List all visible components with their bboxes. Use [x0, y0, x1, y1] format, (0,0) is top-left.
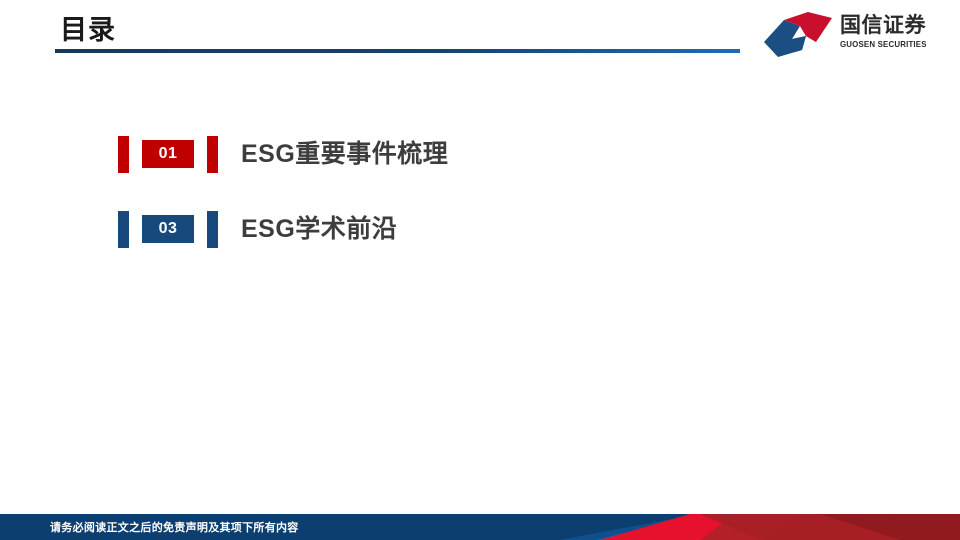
slide-footer: 请务必阅读正文之后的免责声明及其项下所有内容 — [0, 514, 960, 540]
left-bracket-icon — [118, 136, 129, 173]
toc-entry-03[interactable]: 03 ESG学术前沿 — [118, 207, 397, 251]
slide-canvas: 目录 国信证券 GUOSEN SECURITIES 01 ESG重要事件梳理 — [0, 0, 960, 540]
toc-number-badge: 03 — [142, 215, 194, 243]
toc-number-label: 03 — [159, 221, 178, 237]
toc-entry-01[interactable]: 01 ESG重要事件梳理 — [118, 132, 448, 176]
right-bracket-icon — [207, 136, 218, 173]
table-of-contents: 01 ESG重要事件梳理 03 ESG学术前沿 — [0, 0, 960, 540]
toc-number-label: 01 — [159, 146, 178, 162]
footer-disclaimer-text: 请务必阅读正文之后的免责声明及其项下所有内容 — [50, 514, 299, 540]
left-bracket-icon — [118, 211, 129, 248]
right-bracket-icon — [207, 211, 218, 248]
toc-entry-title: ESG学术前沿 — [241, 217, 397, 242]
toc-number-badge: 01 — [142, 140, 194, 168]
toc-entry-title: ESG重要事件梳理 — [241, 142, 448, 167]
